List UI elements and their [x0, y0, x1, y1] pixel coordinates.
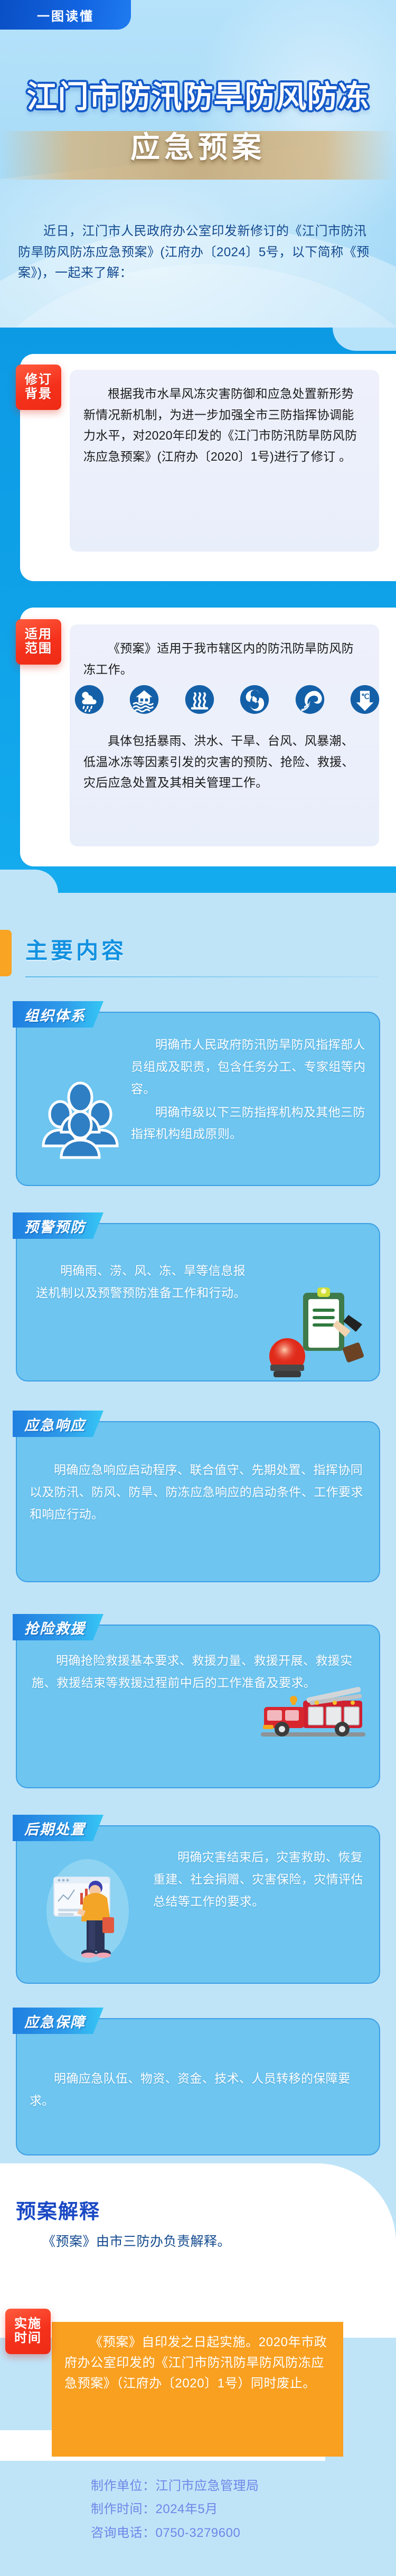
card-body-rescue: 明确抢险救援基本要求、救援力量、救援开展、救援实施、救援结束等救援过程前中后的工…: [32, 1650, 370, 1694]
drought-heat-icon: [184, 683, 215, 716]
infographic-page: 一图读懂 江门市防汛防旱防风防冻 应急预案 近日，江门市人民政府办公室印发新修订…: [0, 0, 396, 2576]
implementation-content: 《预案》自印发之日起实施。2020年市政府办公室印发的《江门市防汛防旱防风防冻应…: [52, 2322, 343, 2457]
card-body-post-disposal: 明确灾害结束后，灾害救助、恢复重建、社会捐赠、灾害保险，灾情评估总结等工作的要求…: [153, 1846, 364, 1913]
card-body-early-warning: 明确雨、涝、风、冻、旱等信息报送机制以及预警预防准备工作和行动。: [36, 1260, 258, 1304]
implementation-tag: 实施 时间: [5, 2309, 51, 2354]
footer-producer: 制作单位：江门市应急管理局: [91, 2475, 334, 2498]
explanation-heading: 预案解释: [16, 2195, 100, 2224]
scope-content: 《预案》适用于我市辖区内的防汛防旱防风防冻工作。 具体包括暴雨、洪水、干旱、台风…: [70, 624, 379, 846]
footer-produced-time: 制作时间：2024年5月: [91, 2498, 334, 2521]
scope-paragraph-1: 《预案》适用于我市辖区内的防汛防旱防风防冻工作。: [83, 638, 365, 680]
content-card-emergency-guarantee: 应急保障 明确应急队伍、物资、资金、技术、人员转移的保障要求。: [16, 2018, 380, 2155]
card-body-organization: 明确市人民政府防汛防旱防风指挥部人员组成及职责，包含任务分工、专家组等内容。 明…: [131, 1034, 370, 1145]
card-tag-emergency-guarantee: 应急保障: [13, 2008, 103, 2034]
heading-divider: [25, 976, 378, 977]
card-body-emergency-guarantee: 明确应急队伍、物资、资金、技术、人员转移的保障要求。: [30, 2068, 367, 2112]
revision-tag-line-2: 背景: [25, 387, 52, 402]
implementation-paragraph: 《预案》自印发之日起实施。2020年市政府办公室印发的《江门市防汛防旱防风防冻应…: [64, 2332, 331, 2394]
page-title-line-1: 江门市防汛防旱防风防冻: [0, 79, 396, 115]
content-card-emergency-response: 应急响应 明确应急响应启动程序、联合值守、先期处置、指挥协同以及防汛、防风、防旱…: [16, 1421, 380, 1582]
card-tag-early-warning: 预警预防: [13, 1212, 103, 1239]
storm-surge-icon: [295, 683, 325, 716]
content-card-early-warning: 预警预防 明确雨、涝、风、冻、旱等信息报送机制以: [16, 1223, 380, 1382]
implementation-tag-line-2: 时间: [14, 2331, 42, 2346]
footer-hotline: 咨询电话：0750-3279600: [91, 2522, 334, 2545]
card-tag-rescue: 抢险救援: [13, 1614, 103, 1640]
card-body-emergency-response: 明确应急响应启动程序、联合值守、先期处置、指挥协同以及防汛、防风、防旱、防冻应急…: [30, 1459, 367, 1526]
band-corner-bottom-left: [0, 870, 58, 893]
card-paragraph: 明确应急队伍、物资、资金、技术、人员转移的保障要求。: [30, 2068, 367, 2112]
scope-tag: 适用 范围: [16, 619, 61, 665]
implementation-tag-line-1: 实施: [14, 2317, 42, 2331]
card-tag-label: 抢险救援: [24, 1617, 86, 1638]
flood-icon: [129, 683, 159, 716]
card-tag-label: 后期处置: [24, 1818, 86, 1838]
people-group-icon: [38, 1076, 122, 1161]
band-corner-top-right: [333, 328, 396, 351]
ribbon-label: 一图读懂: [37, 6, 94, 24]
scope-paragraph-2: 具体包括暴雨、洪水、干旱、台风、风暴潮、低温冰冻等因素引发的灾害的预防、抢险、救…: [83, 731, 365, 794]
card-paragraph: 明确市人民政府防汛防旱防风指挥部人员组成及职责，包含任务分工、专家组等内容。: [131, 1034, 370, 1100]
page-footer: 制作单位：江门市应急管理局 制作时间：2024年5月 咨询电话：0750-327…: [0, 2461, 396, 2576]
card-tag-emergency-response: 应急响应: [13, 1411, 103, 1437]
card-paragraph: 明确抢险救援基本要求、救援力量、救援开展、救援实施、救援结束等救援过程前中后的工…: [32, 1650, 370, 1694]
card-tag-label: 组织体系: [24, 1004, 86, 1025]
analyst-person-icon: [40, 1854, 135, 1965]
title-block: 江门市防汛防旱防风防冻 应急预案: [0, 79, 396, 166]
intro-paragraph: 近日，江门市人民政府办公室印发新修订的《江门市防汛防旱防风防冻应急预案》(江府办…: [18, 221, 377, 284]
card-tag-label: 应急保障: [24, 2011, 86, 2031]
heading-accent-bar: [0, 930, 12, 976]
revision-content: 根据我市水旱风冻灾害防御和应急处置新形势新情况新机制，为进一步加强全市三防指挥协…: [70, 370, 379, 552]
main-content-heading: 主要内容: [25, 933, 127, 965]
card-tag-post-disposal: 后期处置: [13, 1815, 103, 1841]
content-card-rescue: 抢险救援: [16, 1625, 380, 1788]
page-title-line-2: 应急预案: [0, 124, 396, 166]
typhoon-icon: [239, 683, 270, 716]
content-card-organization: 组织体系 明确市人民政府防汛防旱防风指挥部人员组成及职责，包含任务分工、专家组等…: [16, 1012, 380, 1186]
card-paragraph: 明确雨、涝、风、冻、旱等信息报送机制以及预警预防准备工作和行动。: [36, 1260, 258, 1304]
explanation-section: 预案解释 《预案》由市三防办负责解释。: [0, 2163, 396, 2338]
explanation-text: 《预案》由市三防办负责解释。: [16, 2231, 364, 2250]
card-paragraph: 明确应急响应启动程序、联合值守、先期处置、指挥协同以及防汛、防风、防旱、防冻应急…: [30, 1459, 367, 1526]
clipboard-siren-icon: [264, 1285, 370, 1378]
low-temperature-freeze-icon: ℃: [350, 683, 380, 716]
content-card-post-disposal: 后期处置: [16, 1825, 380, 1984]
revision-paragraph: 根据我市水旱风冻灾害防御和应急处置新形势新情况新机制，为进一步加强全市三防指挥协…: [83, 384, 365, 467]
card-tag-organization: 组织体系: [13, 1001, 103, 1028]
card-tag-label: 应急响应: [24, 1414, 86, 1434]
top-ribbon-badge: 一图读懂: [0, 0, 131, 30]
revision-tag-line-1: 修订: [25, 373, 52, 387]
card-paragraph: 明确灾害结束后，灾害救助、恢复重建、社会捐赠、灾害保险，灾情评估总结等工作的要求…: [153, 1846, 364, 1913]
hazard-icon-row: ℃: [74, 683, 380, 716]
revision-tag: 修订 背景: [16, 365, 61, 410]
card-tag-label: 预警预防: [24, 1216, 86, 1236]
card-paragraph: 明确市级以下三防指挥机构及其他三防指挥机构组成原则。: [131, 1102, 370, 1146]
scope-tag-line-1: 适用: [25, 628, 52, 642]
scope-tag-line-2: 范围: [25, 642, 52, 656]
svg-text:℃: ℃: [361, 693, 370, 701]
heavy-rain-icon: [74, 683, 105, 716]
